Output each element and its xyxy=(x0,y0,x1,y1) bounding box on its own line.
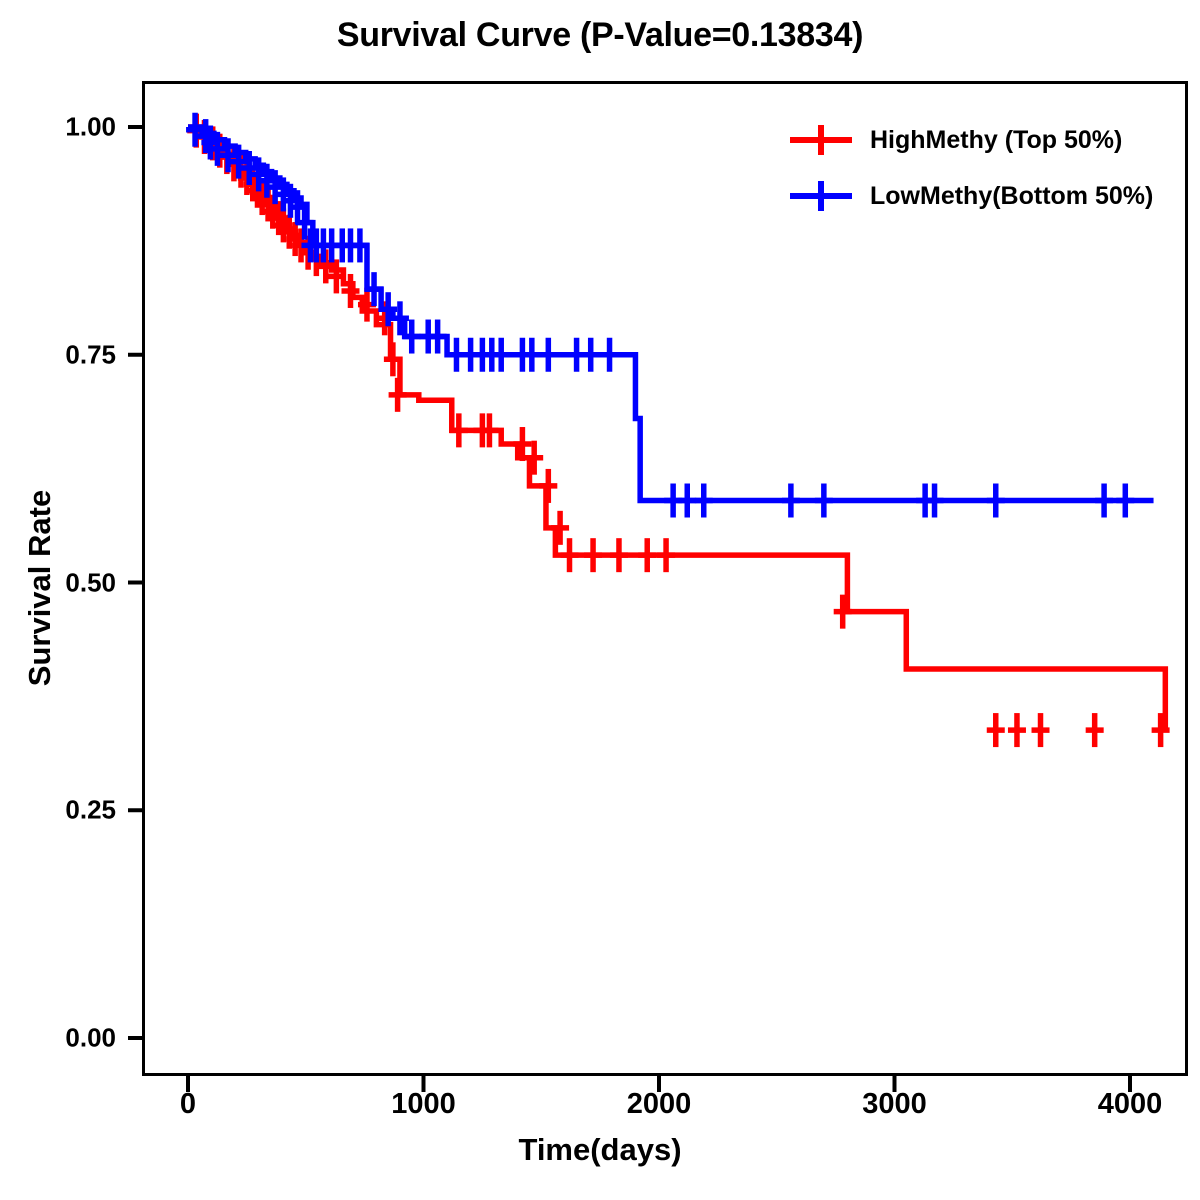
legend-item-low-methy[interactable]: LowMethy(Bottom 50%) xyxy=(790,168,1170,224)
survival-curve-figure: Survival Curve (P-Value=0.13834) Surviva… xyxy=(0,0,1200,1200)
y-tick-label: 1.00 xyxy=(28,112,116,143)
legend-label-high-methy: HighMethy (Top 50%) xyxy=(852,126,1122,155)
plus-marker-icon xyxy=(790,120,852,160)
plus-marker-icon xyxy=(790,176,852,216)
legend-label-low-methy: LowMethy(Bottom 50%) xyxy=(852,182,1153,211)
y-tick-label: 0.50 xyxy=(28,567,116,598)
y-tick-label: 0.25 xyxy=(28,795,116,826)
page-title: Survival Curve (P-Value=0.13834) xyxy=(0,16,1200,55)
x-tick-label: 0 xyxy=(108,1088,268,1121)
y-tick-label: 0.75 xyxy=(28,339,116,370)
chart-legend: HighMethy (Top 50%) LowMethy(Bottom 50%) xyxy=(790,112,1170,224)
x-tick-label: 4000 xyxy=(1050,1088,1200,1121)
x-tick-label: 3000 xyxy=(815,1088,975,1121)
y-tick-label: 0.00 xyxy=(28,1023,116,1054)
x-tick-label: 2000 xyxy=(579,1088,739,1121)
plot-area xyxy=(142,81,1188,1076)
legend-item-high-methy[interactable]: HighMethy (Top 50%) xyxy=(790,112,1170,168)
x-axis-title: Time(days) xyxy=(0,1132,1200,1168)
x-tick-label: 1000 xyxy=(344,1088,504,1121)
